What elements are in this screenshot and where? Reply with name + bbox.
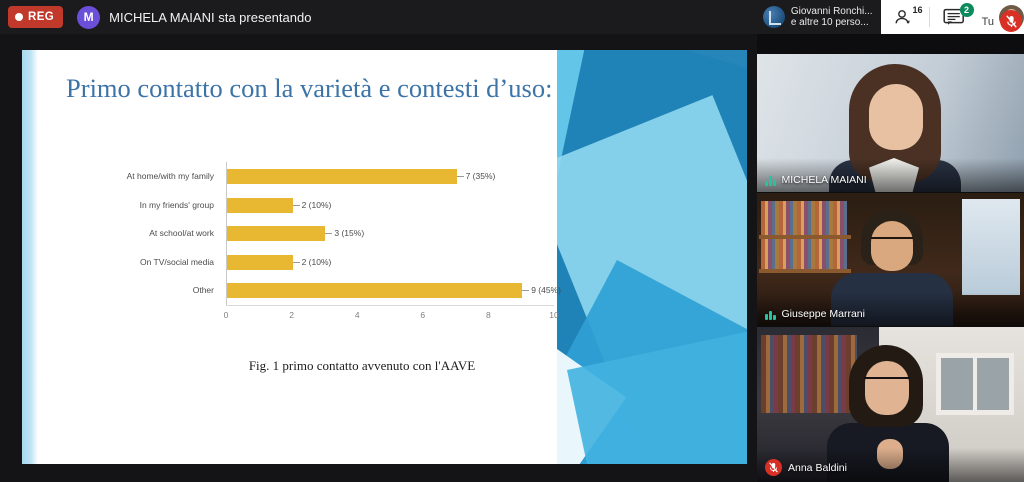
- bar: [227, 226, 325, 241]
- category-label: At school/at work: [149, 219, 214, 248]
- tile-name-tag: Giuseppe Marrani: [765, 308, 865, 320]
- recording-dot-icon: [15, 13, 23, 21]
- self-label: Tu: [982, 16, 994, 34]
- participant-name: Giuseppe Marrani: [782, 308, 865, 320]
- bar: [227, 198, 293, 213]
- top-bar: REG M MICHELA MAIANI sta presentando Gio…: [0, 0, 1024, 34]
- video-tiles: MICHELA MAIANI Giuseppe Marrani: [757, 34, 1024, 482]
- bar: [227, 283, 522, 298]
- figure-caption: Fig. 1 primo contatto avvenuto con l'AAV…: [82, 358, 642, 374]
- participant-name: Anna Baldini: [788, 462, 847, 474]
- slide: Primo contatto con la varietà e contesti…: [22, 50, 747, 464]
- x-tick-label: 8: [486, 310, 491, 320]
- chart-plot-area: 7 (35%) 2 (10%) 3 (15%) 2 (10%) 9 (45%): [226, 162, 554, 305]
- chat-unread-badge: 2: [960, 3, 974, 17]
- category-label: In my friends' group: [140, 191, 214, 220]
- bar-value-label: 3 (15%): [334, 226, 364, 241]
- category-label: Other: [193, 276, 214, 305]
- video-tile-michela-maiani[interactable]: MICHELA MAIANI: [757, 54, 1024, 192]
- participants-chip[interactable]: Giovanni Ronchi... e altre 10 perso...: [757, 0, 881, 34]
- category-label: At home/with my family: [127, 162, 214, 191]
- bar-value-label: 9 (45%): [531, 283, 561, 298]
- presenter-status-text: MICHELA MAIANI sta presentando: [109, 10, 311, 25]
- audio-level-icon: [765, 309, 776, 320]
- participants-line-2: e altre 10 perso...: [791, 17, 873, 29]
- chat-button[interactable]: 2: [930, 0, 980, 34]
- recording-badge[interactable]: REG: [8, 6, 63, 28]
- self-mic-muted-button[interactable]: [1000, 10, 1022, 32]
- x-tick-label: 4: [355, 310, 360, 320]
- tile-name-tag: MICHELA MAIANI: [765, 174, 867, 186]
- bar: [227, 255, 293, 270]
- x-tick-label: 0: [224, 310, 229, 320]
- top-right-controls: Giovanni Ronchi... e altre 10 perso... 1…: [757, 0, 1024, 34]
- chart-x-axis: 0 2 4 6 8 10: [226, 305, 554, 323]
- slide-title: Primo contatto con la varietà e contesti…: [66, 73, 552, 104]
- video-tile-giuseppe-marrani[interactable]: Giuseppe Marrani: [757, 193, 1024, 326]
- presenter-avatar: M: [77, 6, 100, 29]
- tile-name-tag: Anna Baldini: [765, 459, 847, 476]
- bar-value-label: 2 (10%): [302, 255, 332, 270]
- presenter-initial: M: [84, 10, 94, 24]
- x-tick-label: 10: [549, 310, 558, 320]
- category-label: On TV/social media: [140, 248, 214, 277]
- bar-chart: At home/with my family In my friends' gr…: [82, 162, 602, 322]
- people-count: 16: [913, 5, 923, 15]
- microphone-muted-icon: [765, 459, 782, 476]
- slide-left-accent: [22, 50, 38, 464]
- people-button[interactable]: 16: [881, 0, 929, 34]
- x-tick-label: 6: [420, 310, 425, 320]
- chart-category-labels: At home/with my family In my friends' gr…: [82, 162, 220, 305]
- microphone-muted-icon: [1006, 15, 1017, 28]
- presentation-stage[interactable]: Primo contatto con la varietà e contesti…: [0, 34, 755, 482]
- mic-slash-glyph: [769, 462, 778, 473]
- bar-value-label: 7 (35%): [466, 169, 496, 184]
- recording-label: REG: [28, 11, 54, 23]
- x-tick-label: 2: [289, 310, 294, 320]
- participant-name: MICHELA MAIANI: [782, 174, 867, 186]
- organization-logo-icon: [763, 6, 785, 28]
- participants-line-1: Giovanni Ronchi...: [791, 6, 873, 18]
- meeting-window: REG M MICHELA MAIANI sta presentando Gio…: [0, 0, 1024, 482]
- participants-names: Giovanni Ronchi... e altre 10 perso...: [791, 6, 873, 29]
- video-tile-anna-baldini[interactable]: Anna Baldini: [757, 327, 1024, 482]
- audio-level-icon: [765, 175, 776, 186]
- bar-value-label: 2 (10%): [302, 198, 332, 213]
- bar: [227, 169, 457, 184]
